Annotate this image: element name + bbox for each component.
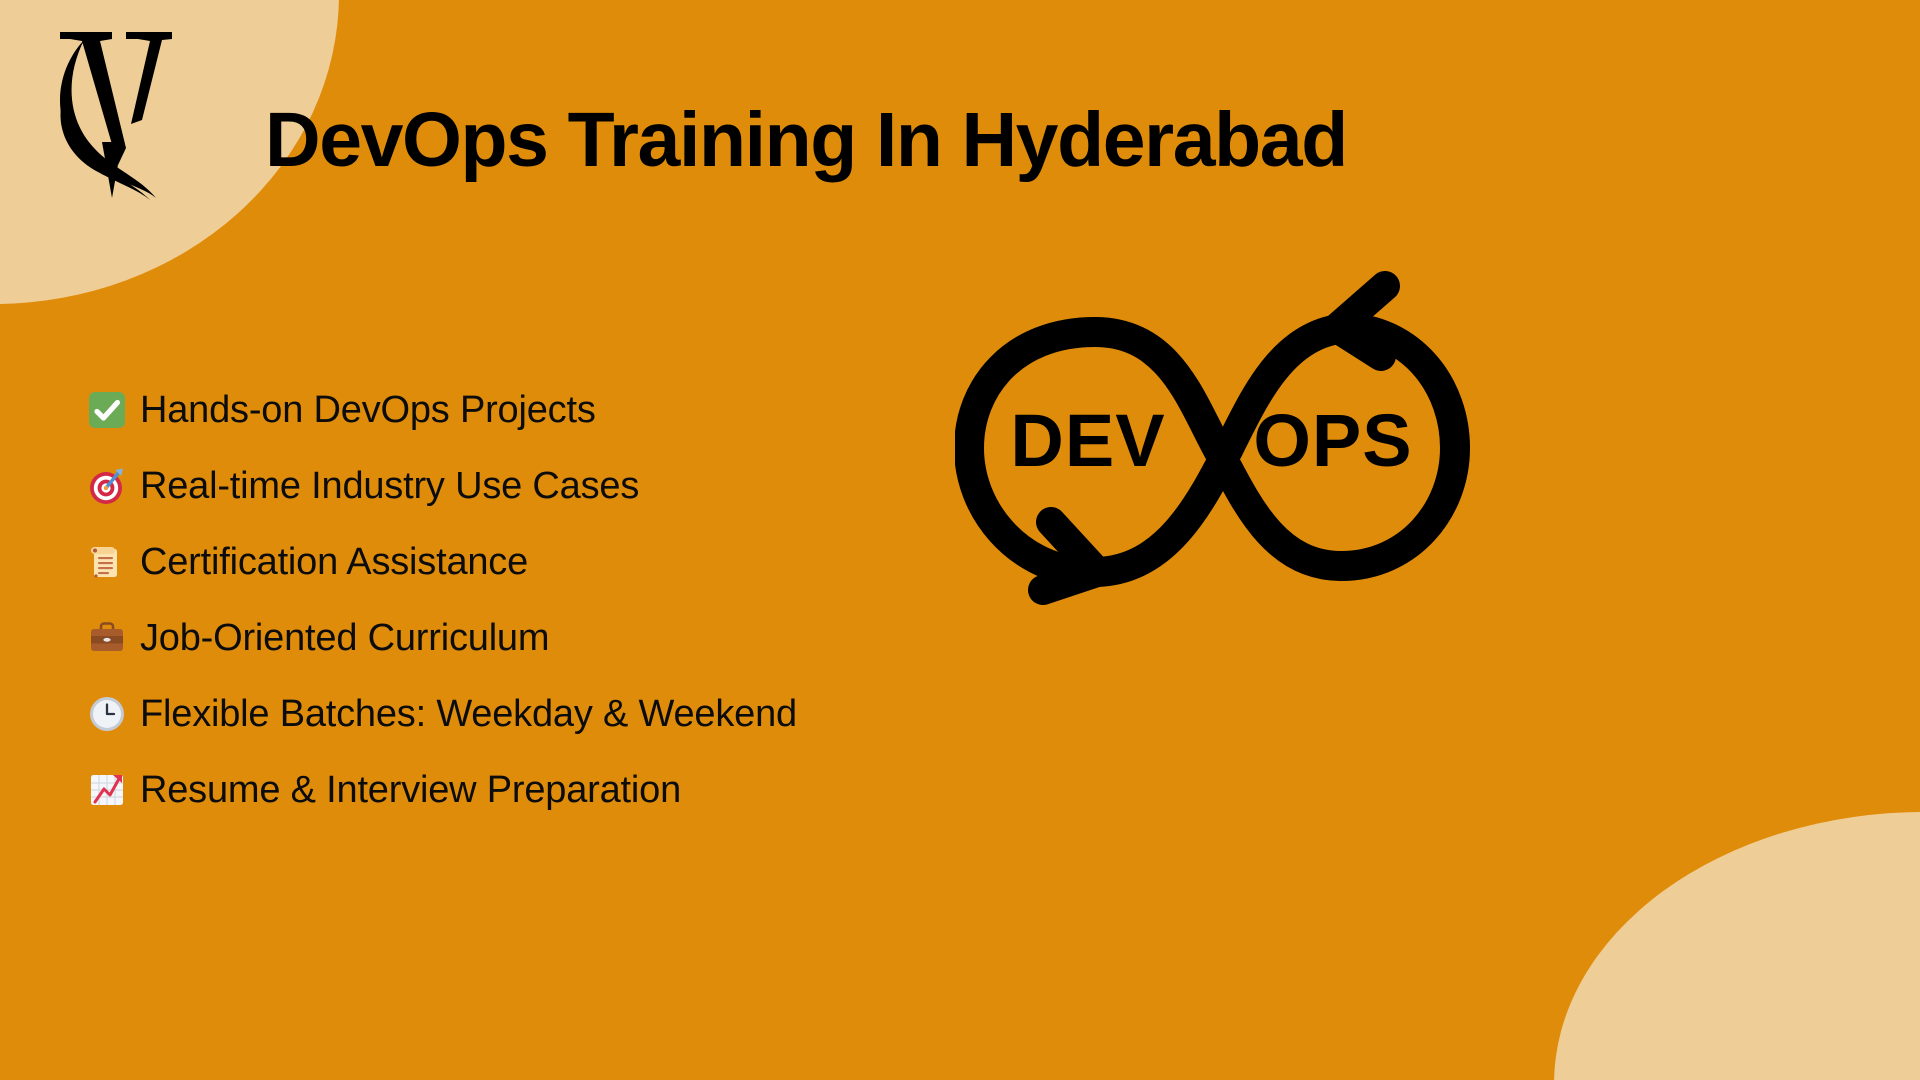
- list-item-label: Job-Oriented Curriculum: [140, 619, 549, 657]
- devops-right-label: OPS: [1253, 399, 1412, 482]
- clock-icon: [88, 695, 126, 733]
- list-item-label: Flexible Batches: Weekday & Weekend: [140, 695, 797, 733]
- list-item: Real-time Industry Use Cases: [88, 448, 928, 524]
- bottom-right-corner-shape: [1554, 812, 1920, 1080]
- check-mark-button-icon: [88, 391, 126, 429]
- list-item-label: Real-time Industry Use Cases: [140, 467, 639, 505]
- list-item: Certification Assistance: [88, 524, 928, 600]
- slide-canvas: DevOps Training In Hyderabad Hands-on De…: [0, 0, 1920, 1080]
- devops-left-label: DEV: [1010, 399, 1165, 482]
- devops-infinity-loop-icon: DEV OPS: [955, 270, 1480, 625]
- list-item-label: Certification Assistance: [140, 543, 528, 581]
- chart-increasing-icon: [88, 771, 126, 809]
- list-item-label: Resume & Interview Preparation: [140, 771, 681, 809]
- list-item: Job-Oriented Curriculum: [88, 600, 928, 676]
- list-item: Hands-on DevOps Projects: [88, 372, 928, 448]
- list-item: Flexible Batches: Weekday & Weekend: [88, 676, 928, 752]
- v-monogram-logo: [38, 20, 178, 205]
- list-item: Resume & Interview Preparation: [88, 752, 928, 828]
- scroll-icon: [88, 543, 126, 581]
- bullseye-dart-icon: [88, 467, 126, 505]
- page-title: DevOps Training In Hyderabad: [265, 98, 1885, 183]
- list-item-label: Hands-on DevOps Projects: [140, 391, 596, 429]
- briefcase-icon: [88, 619, 126, 657]
- feature-list: Hands-on DevOps Projects Real-time Indus…: [88, 372, 928, 828]
